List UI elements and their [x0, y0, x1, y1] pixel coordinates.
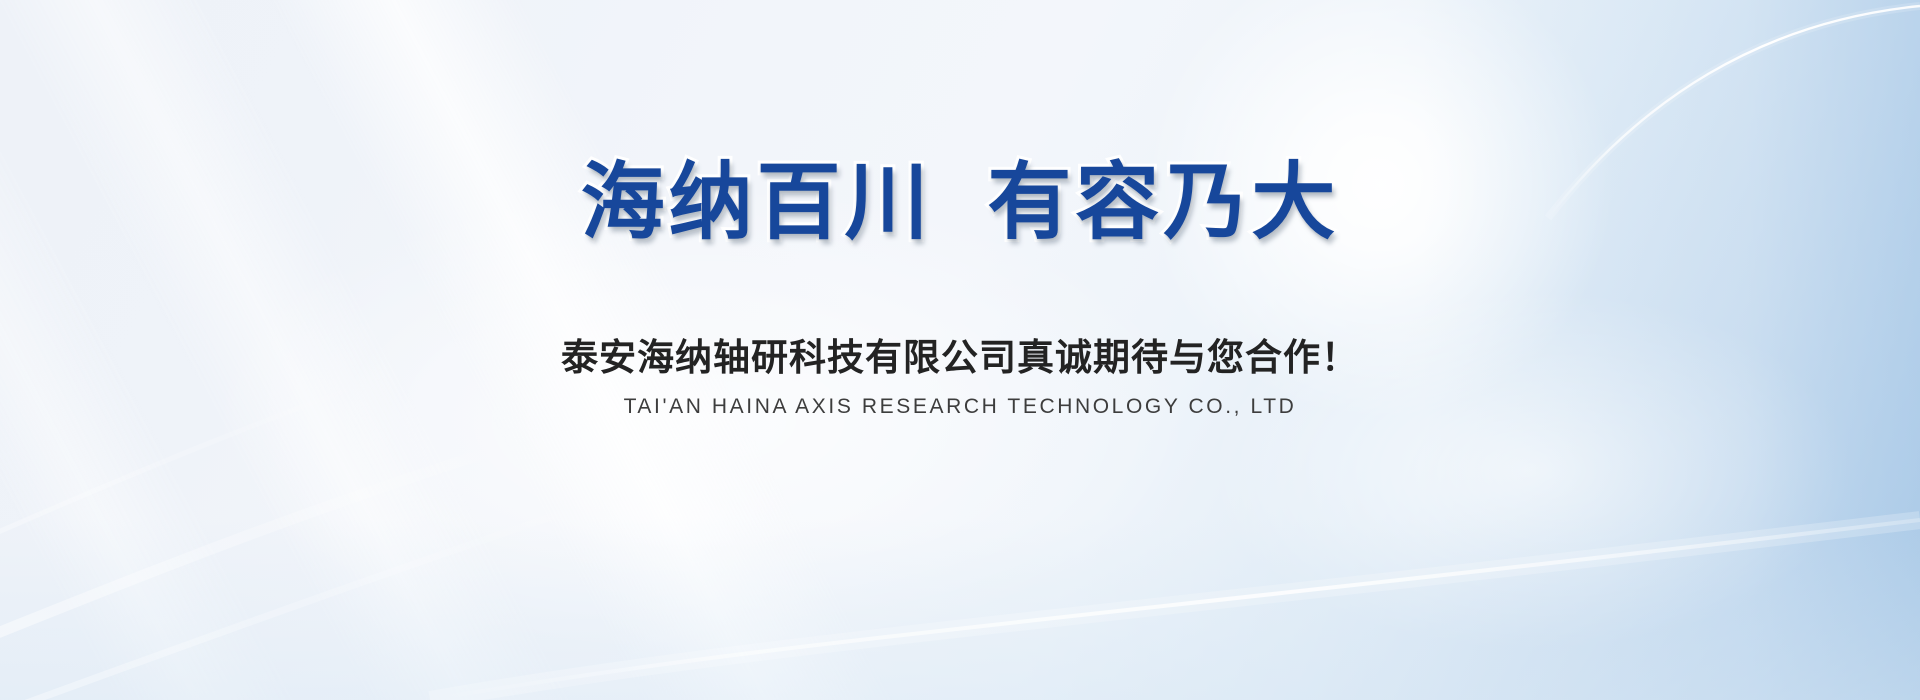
hero-banner: 海纳百川 有容乃大 泰安海纳轴研科技有限公司真诚期待与您合作！ TAI'AN H…: [0, 0, 1920, 700]
banner-headline: 海纳百川 有容乃大: [581, 158, 1340, 247]
banner-subtitle-chinese: 泰安海纳轴研科技有限公司真诚期待与您合作！: [561, 327, 1359, 381]
banner-subtitle-english: TAI'AN HAINA AXIS RESEARCH TECHNOLOGY CO…: [624, 395, 1297, 419]
banner-content: 海纳百川 有容乃大 泰安海纳轴研科技有限公司真诚期待与您合作！ TAI'AN H…: [0, 0, 1920, 700]
